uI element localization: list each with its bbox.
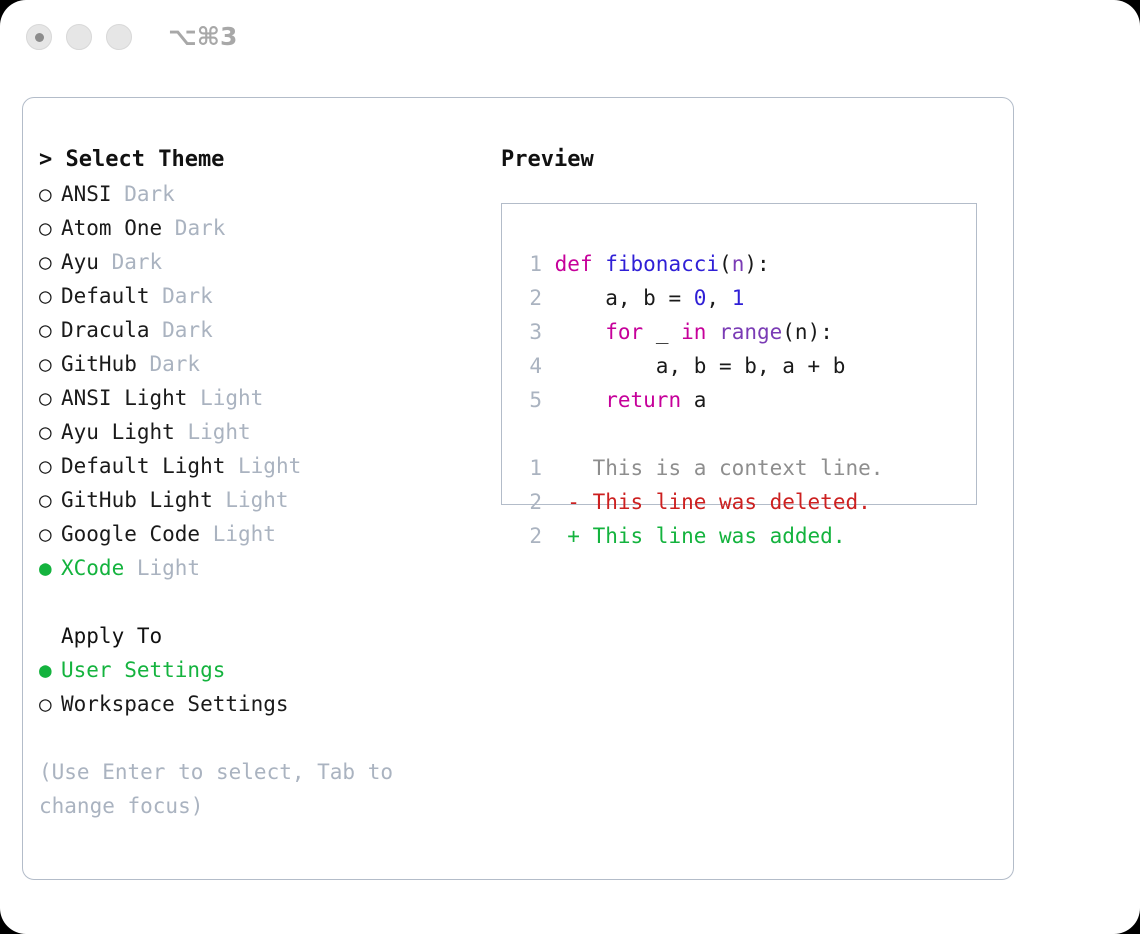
code-token: , bbox=[706, 286, 731, 310]
line-number: 3 bbox=[514, 315, 542, 349]
title-bar: ⌥⌘3 bbox=[0, 0, 1140, 80]
preview-title: Preview bbox=[501, 143, 1001, 177]
window-controls bbox=[26, 24, 132, 50]
code-token: ( bbox=[719, 252, 732, 276]
line-number: 2 bbox=[514, 281, 542, 315]
code-token: in bbox=[681, 320, 706, 344]
theme-option-row[interactable]: ○Dracula Dark bbox=[39, 313, 489, 347]
theme-kind-label: Dark bbox=[162, 216, 225, 240]
diff-sign bbox=[567, 456, 580, 480]
radio-unselected-icon: ○ bbox=[39, 177, 61, 211]
radio-unselected-icon: ○ bbox=[39, 449, 61, 483]
gutter-gap bbox=[542, 490, 567, 514]
theme-option-row[interactable]: ○GitHub Light Light bbox=[39, 483, 489, 517]
traffic-light-3[interactable] bbox=[106, 24, 132, 50]
theme-name-label: XCode bbox=[61, 556, 124, 580]
theme-name-label: ANSI Light bbox=[61, 386, 187, 410]
code-token: _ bbox=[643, 320, 681, 344]
code-diff-separator bbox=[514, 417, 974, 451]
radio-unselected-icon: ○ bbox=[39, 245, 61, 279]
theme-kind-label: Light bbox=[175, 420, 251, 444]
theme-kind-label: Light bbox=[225, 454, 301, 478]
theme-kind-label: Dark bbox=[150, 318, 213, 342]
theme-kind-label: Dark bbox=[112, 182, 175, 206]
line-number: 2 bbox=[514, 519, 542, 553]
theme-option-row[interactable]: ●XCode Light bbox=[39, 551, 489, 585]
code-line: 3 for _ in range(n): bbox=[514, 315, 974, 349]
theme-option-row[interactable]: ○Ayu Light Light bbox=[39, 415, 489, 449]
theme-name-label: Default Light bbox=[61, 454, 225, 478]
theme-name-label: Default bbox=[61, 284, 150, 308]
radio-unselected-icon: ○ bbox=[39, 279, 61, 313]
code-token: a bbox=[681, 388, 706, 412]
line-number: 4 bbox=[514, 349, 542, 383]
code-token: range bbox=[719, 320, 782, 344]
apply-to-label: Workspace Settings bbox=[61, 692, 289, 716]
theme-kind-label: Dark bbox=[137, 352, 200, 376]
code-token bbox=[555, 388, 606, 412]
line-number: 1 bbox=[514, 247, 542, 281]
diff-line: 2 + This line was added. bbox=[514, 519, 974, 553]
gutter-gap bbox=[542, 320, 555, 344]
gutter-gap bbox=[542, 524, 567, 548]
theme-option-row[interactable]: ○GitHub Dark bbox=[39, 347, 489, 381]
theme-list-column: > Select Theme ○ANSI Dark○Atom One Dark○… bbox=[39, 143, 489, 823]
radio-unselected-icon: ○ bbox=[39, 347, 61, 381]
radio-selected-icon: ● bbox=[39, 551, 61, 585]
theme-name-label: Atom One bbox=[61, 216, 162, 240]
theme-name-label: ANSI bbox=[61, 182, 112, 206]
theme-picker-panel: > Select Theme ○ANSI Dark○Atom One Dark○… bbox=[22, 97, 1014, 880]
theme-kind-label: Light bbox=[124, 556, 200, 580]
theme-option-row[interactable]: ○ANSI Dark bbox=[39, 177, 489, 211]
theme-name-label: GitHub Light bbox=[61, 488, 213, 512]
code-token bbox=[706, 320, 719, 344]
gutter-gap bbox=[542, 252, 555, 276]
theme-option-row[interactable]: ○Default Dark bbox=[39, 279, 489, 313]
diff-text: This line was deleted. bbox=[580, 490, 871, 514]
theme-kind-label: Light bbox=[200, 522, 276, 546]
traffic-light-1[interactable] bbox=[26, 24, 52, 50]
traffic-light-dot-icon bbox=[35, 33, 44, 42]
theme-name-label: Dracula bbox=[61, 318, 150, 342]
select-theme-header: > Select Theme bbox=[39, 143, 489, 177]
code-line: 2 a, b = 0, 1 bbox=[514, 281, 974, 315]
code-preview: 1 def fibonacci(n):2 a, b = 0, 13 for _ … bbox=[514, 247, 974, 553]
apply-to-title: Apply To bbox=[39, 619, 489, 653]
radio-unselected-icon: ○ bbox=[39, 687, 61, 721]
theme-kind-label: Light bbox=[213, 488, 289, 512]
radio-unselected-icon: ○ bbox=[39, 517, 61, 551]
radio-unselected-icon: ○ bbox=[39, 211, 61, 245]
diff-sign: + bbox=[567, 524, 580, 548]
line-number: 1 bbox=[514, 451, 542, 485]
code-token: 1 bbox=[732, 286, 745, 310]
theme-list: ○ANSI Dark○Atom One Dark○Ayu Dark○Defaul… bbox=[39, 177, 489, 585]
code-line: 5 return a bbox=[514, 383, 974, 417]
code-token: fibonacci bbox=[605, 252, 719, 276]
code-token: def bbox=[555, 252, 606, 276]
code-token: (n): bbox=[782, 320, 833, 344]
code-token: a, b = b, a + b bbox=[555, 354, 846, 378]
apply-to-list: ●User Settings○Workspace Settings bbox=[39, 653, 489, 721]
preview-box: 1 def fibonacci(n):2 a, b = 0, 13 for _ … bbox=[501, 203, 977, 505]
theme-name-label: Ayu bbox=[61, 250, 99, 274]
code-line: 1 def fibonacci(n): bbox=[514, 247, 974, 281]
diff-line: 1 This is a context line. bbox=[514, 451, 974, 485]
code-line: 4 a, b = b, a + b bbox=[514, 349, 974, 383]
theme-name-label: Ayu Light bbox=[61, 420, 175, 444]
theme-option-row[interactable]: ○Atom One Dark bbox=[39, 211, 489, 245]
diff-sign: - bbox=[567, 490, 580, 514]
radio-unselected-icon: ○ bbox=[39, 381, 61, 415]
line-number: 5 bbox=[514, 383, 542, 417]
gutter-gap bbox=[542, 286, 555, 310]
code-sample: 1 def fibonacci(n):2 a, b = 0, 13 for _ … bbox=[514, 247, 974, 417]
theme-option-row[interactable]: ○ANSI Light Light bbox=[39, 381, 489, 415]
radio-unselected-icon: ○ bbox=[39, 483, 61, 517]
code-token bbox=[555, 320, 606, 344]
radio-selected-icon: ● bbox=[39, 653, 61, 687]
theme-option-row[interactable]: ○Google Code Light bbox=[39, 517, 489, 551]
radio-unselected-icon: ○ bbox=[39, 313, 61, 347]
traffic-light-2[interactable] bbox=[66, 24, 92, 50]
theme-name-label: GitHub bbox=[61, 352, 137, 376]
theme-kind-label: Light bbox=[187, 386, 263, 410]
theme-kind-label: Dark bbox=[99, 250, 162, 274]
code-token: a, b = bbox=[555, 286, 694, 310]
gutter-gap bbox=[542, 354, 555, 378]
code-token: 0 bbox=[694, 286, 707, 310]
preview-column: Preview 1 def fibonacci(n):2 a, b = 0, 1… bbox=[501, 143, 1001, 505]
keyboard-hint: (Use Enter to select, Tab to change focu… bbox=[39, 755, 449, 823]
theme-option-row[interactable]: ○Default Light Light bbox=[39, 449, 489, 483]
code-token: ): bbox=[744, 252, 769, 276]
theme-option-row[interactable]: ○Ayu Dark bbox=[39, 245, 489, 279]
theme-kind-label: Dark bbox=[150, 284, 213, 308]
theme-name-label: Google Code bbox=[61, 522, 200, 546]
radio-unselected-icon: ○ bbox=[39, 415, 61, 449]
gutter-gap bbox=[542, 456, 567, 480]
keyboard-shortcut-label: ⌥⌘3 bbox=[168, 22, 237, 51]
diff-line: 2 - This line was deleted. bbox=[514, 485, 974, 519]
code-token: return bbox=[605, 388, 681, 412]
apply-to-option-row[interactable]: ○Workspace Settings bbox=[39, 687, 489, 721]
diff-text: This is a context line. bbox=[580, 456, 883, 480]
diff-text: This line was added. bbox=[580, 524, 846, 548]
line-number: 2 bbox=[514, 485, 542, 519]
gutter-gap bbox=[542, 388, 555, 412]
diff-sample: 1 This is a context line.2 - This line w… bbox=[514, 451, 974, 553]
apply-to-label: User Settings bbox=[61, 658, 225, 682]
apply-to-option-row[interactable]: ●User Settings bbox=[39, 653, 489, 687]
code-token: n bbox=[732, 252, 745, 276]
code-token: for bbox=[605, 320, 643, 344]
list-spacer bbox=[39, 585, 489, 619]
terminal-window: ⌥⌘3 > Select Theme ○ANSI Dark○Atom One D… bbox=[0, 0, 1140, 934]
